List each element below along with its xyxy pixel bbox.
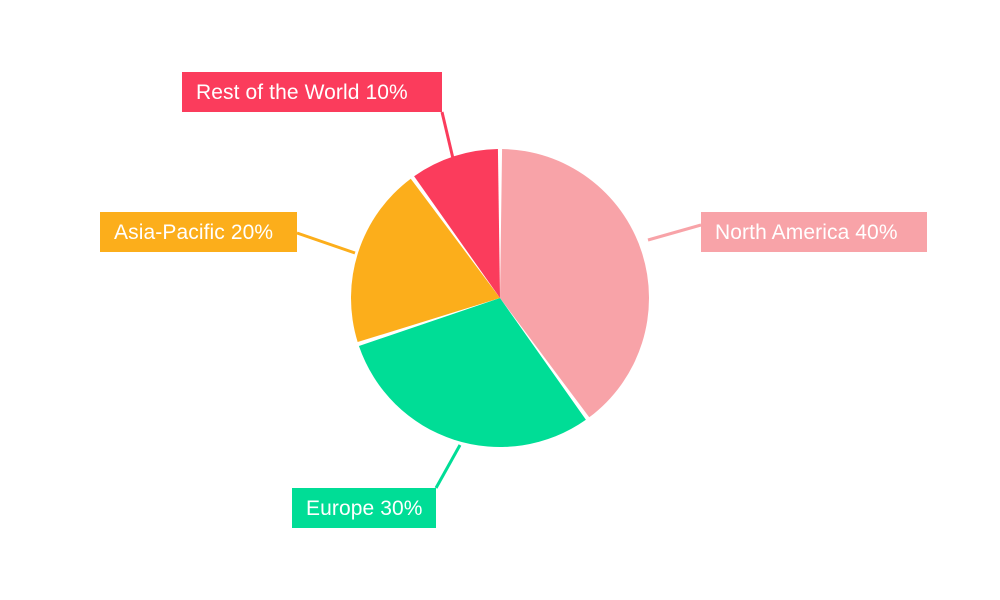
pie-label-rest-of-the-world[interactable]: Rest of the World 10%	[182, 72, 442, 112]
leader-line-europe	[436, 445, 460, 488]
pie-chart-canvas: North America 40%Europe 30%Asia-Pacific …	[0, 0, 1000, 600]
pie-label-asia-pacific[interactable]: Asia-Pacific 20%	[100, 212, 297, 252]
pie-chart-svg	[0, 0, 1000, 600]
pie-label-europe[interactable]: Europe 30%	[292, 488, 436, 528]
leader-line-north-america	[648, 225, 701, 240]
pie-label-text: Rest of the World 10%	[196, 82, 408, 103]
pie-label-north-america[interactable]: North America 40%	[701, 212, 927, 252]
pie-wedges-group	[351, 149, 649, 447]
pie-label-text: North America 40%	[715, 222, 898, 243]
pie-label-text: Europe 30%	[306, 498, 423, 519]
leader-line-asia-pacific	[297, 233, 355, 253]
pie-label-text: Asia-Pacific 20%	[114, 222, 273, 243]
